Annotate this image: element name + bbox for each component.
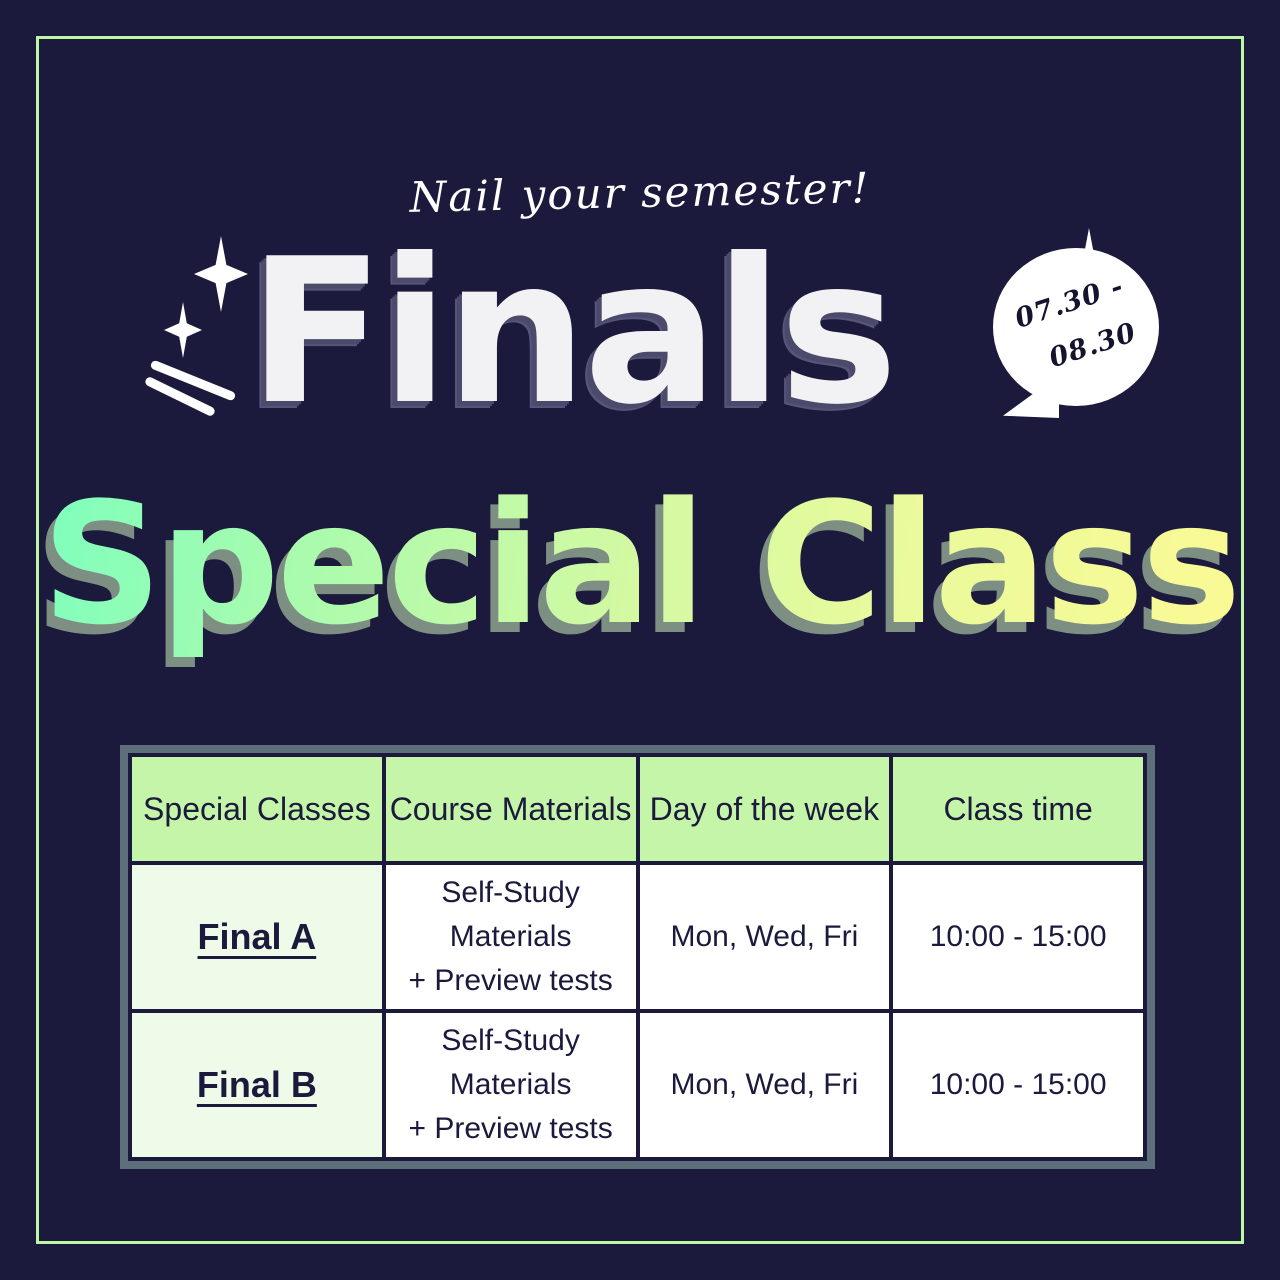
materials-line-1: Self-Study Materials: [386, 871, 636, 959]
sparkle-icon: [164, 302, 202, 358]
streak-line-icon: [150, 359, 237, 401]
column-header-day-of-week: Day of the week: [638, 755, 892, 863]
table-header-row: Special Classes Course Materials Day of …: [130, 755, 1145, 863]
schedule-table: Special Classes Course Materials Day of …: [128, 753, 1147, 1161]
table-row: Final B Self-Study Materials + Preview t…: [130, 1011, 1145, 1159]
cell-time: 10:00 - 15:00: [891, 1011, 1145, 1159]
column-header-special-classes: Special Classes: [130, 755, 384, 863]
materials-line-1: Self-Study Materials: [386, 1019, 636, 1107]
title-special-class-text: Special Class: [41, 466, 1238, 662]
cell-course-materials: Self-Study Materials + Preview tests: [384, 1011, 638, 1159]
cell-class-name: Final A: [130, 863, 384, 1011]
materials-line-2: + Preview tests: [386, 1107, 636, 1151]
sparkle-icon: [194, 236, 248, 312]
table-row: Final A Self-Study Materials + Preview t…: [130, 863, 1145, 1011]
cell-course-materials: Self-Study Materials + Preview tests: [384, 863, 638, 1011]
poster-canvas: Nail your semester! Finals 07.30 - 08.30…: [0, 0, 1280, 1280]
cell-days: Mon, Wed, Fri: [638, 1011, 892, 1159]
column-header-class-time: Class time: [891, 755, 1145, 863]
cell-class-name: Final B: [130, 1011, 384, 1159]
cell-days: Mon, Wed, Fri: [638, 863, 892, 1011]
column-header-course-materials: Course Materials: [384, 755, 638, 863]
title-special-class: Special Class: [0, 476, 1280, 652]
cell-time: 10:00 - 15:00: [891, 863, 1145, 1011]
schedule-table-frame: Special Classes Course Materials Day of …: [120, 745, 1155, 1169]
materials-line-2: + Preview tests: [386, 959, 636, 1003]
title-finals: Finals: [248, 228, 894, 438]
